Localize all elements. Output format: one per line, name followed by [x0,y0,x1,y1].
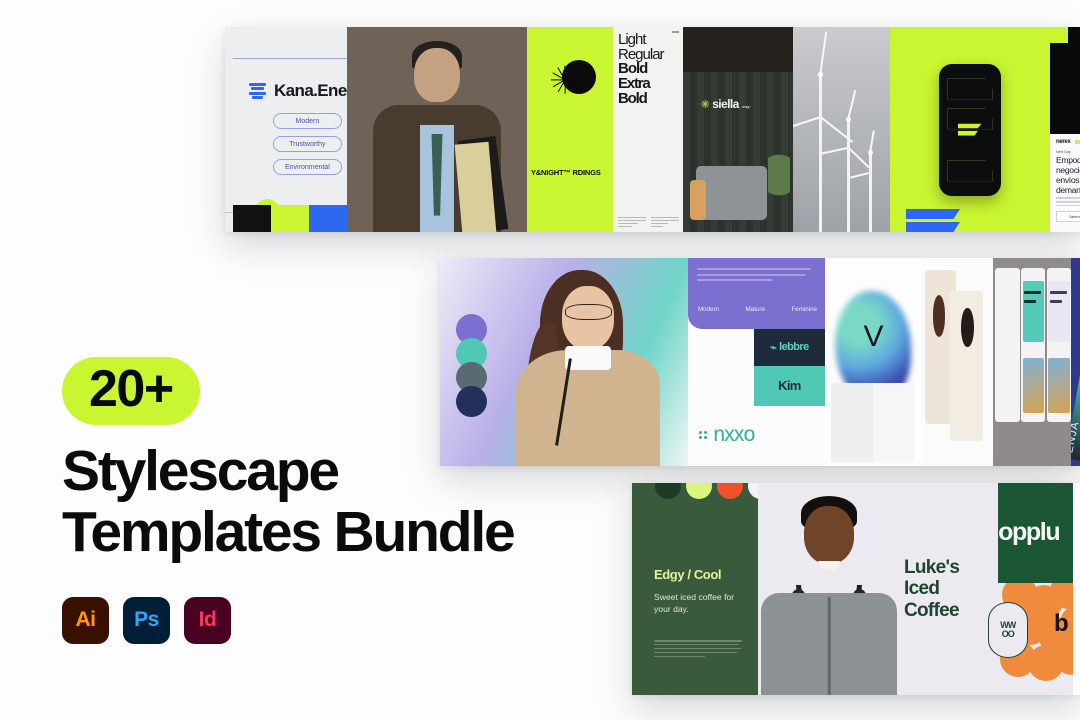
color-swatch [309,205,347,232]
turbine-blade [819,31,828,76]
tagline: Sweet iced coffee for your day. [654,591,742,616]
stylescape-board-nxxo[interactable]: Modern Mature Feminine ⌁ lebbre Kim nxxo [440,258,1080,466]
face-shape [414,48,460,102]
nxxo-wordmark: nxxo [713,423,754,447]
panel-interior-signage: ✳ siella design [683,27,793,232]
color-palette-dots [655,483,758,499]
panel-wind-turbines [793,27,890,232]
lebbre-logo-card: ⌁ lebbre [754,329,825,366]
count-badge: 20+ [62,357,200,425]
website-nav: nerex [1056,139,1080,145]
smile-shape [818,561,840,570]
app-screen [1021,268,1045,422]
app-photo [1023,358,1044,413]
plant-shape [768,154,790,224]
woman-portrait [509,266,663,466]
panel-app-screens [993,258,1071,466]
color-swatch [233,205,271,232]
panel-brand-intro: Kana.Energy Modern Trustworthy Environme… [225,27,347,232]
blue-accent-shape [906,206,960,232]
diagonal-line-decoration [232,27,347,59]
green-wordmark-block: opplu [998,483,1073,583]
panel-brand-title: Luke's Iced Coffee [900,483,986,695]
siella-mark-icon: ✳ [701,98,710,111]
fine-print-lines [654,640,742,659]
nxxo-mark-icon [699,431,707,439]
panel-mood-statement: Edgy / Cool Sweet iced coffee for your d… [632,483,758,695]
panel-app-mockup [890,27,1050,232]
color-swatch [271,205,309,232]
website-mockup-nerex: nerex Next Day Empodera tu negocio con e… [1050,134,1080,232]
panel-statement-and-logos: Modern Mature Feminine ⌁ lebbre Kim nxxo [688,258,825,466]
hero-headline: Empodera tu negocio con envíos on- deman… [1056,156,1080,196]
phone-chevron-shape [947,160,993,182]
siella-signage: ✳ siella design [701,97,750,111]
kim-wordmark: Kim [778,378,800,393]
panel-monogram: V [825,258,921,466]
lime-corner-accent [1050,27,1068,43]
app-hero-card [1023,281,1044,343]
keyword-row: Modern Mature Feminine [698,306,817,313]
keyword: Modern [698,306,719,313]
palette-dot [456,386,487,417]
lebbre-mark-icon: ⌁ [770,341,776,354]
turbine-post [847,117,850,232]
siella-sup: design [742,104,750,109]
panel-product-packaging: ENJA [1071,258,1080,466]
overlay-wordmark: Y&NIGHT™ RDINGS [531,167,601,178]
keyword: Feminine [792,306,817,313]
phone-mockup [939,64,1001,196]
zipper-shape [828,597,831,695]
app-hero-card [1048,281,1069,343]
app-badge-photoshop: Ps [123,597,170,644]
palette-dot [748,483,758,499]
panel-portrait-customer [758,483,900,695]
sun-rays-icon [551,64,579,94]
panel-portrait-businessman [347,27,527,232]
app-photo [1048,358,1069,413]
kim-logo-card: Kim [754,366,825,406]
nerex-logo: nerex [1056,139,1071,145]
phone-logo-icon [958,123,982,136]
app-screen [995,268,1019,422]
ceiling-band [683,27,793,72]
nav-active-pill[interactable] [1075,140,1080,144]
sofa-shape [696,166,766,219]
turbine-blade [869,130,875,153]
mood-label: Edgy / Cool [654,567,721,582]
color-swatch-row [233,205,347,232]
panel-type-specimen: Light Regular Bold Extra Bold [613,27,683,232]
lebbre-wordmark: lebbre [779,341,808,353]
turbine-blade [850,171,870,178]
hero-eyebrow: Next Day [1056,150,1080,154]
nxxo-primary-logo: nxxo [699,423,755,447]
collar-shape [565,346,611,370]
wwoo-bottom: OO [1002,630,1014,639]
panel-beton-collateral: beton beton b nerex [1050,27,1080,232]
keyword-pill: Modern [273,113,342,129]
app-badge-illustrator: Ai [62,597,109,644]
canvas: 20+ Stylescape Templates Bundle Ai Ps Id… [0,0,1080,720]
keyword-pill: Trustworthy [273,136,342,152]
head-shape [961,308,973,348]
monogram-letter: V [863,320,882,354]
statement-text-lines [697,268,816,281]
brand-keyword-list: Modern Trustworthy Environmental [273,113,342,175]
panel-hero-portrait [440,258,688,466]
brand-title: Luke's Iced Coffee [900,557,959,621]
wwoo-badge-icon: WW OO [988,602,1028,658]
color-palette-dots [456,314,487,417]
type-weight-extra-bold: Bold [618,92,679,107]
brand-name: Kana.Energy [274,81,347,101]
keyword-pill: Environmental [273,159,342,175]
eyeglasses-icon [565,304,613,320]
specimen-caption-lines [618,217,679,229]
corner-mark-icon [672,31,679,33]
hero-secondary-button[interactable]: Saber más [1056,211,1080,222]
secondary-mark: b [1054,610,1069,638]
panel-clinic-photo [921,258,993,466]
statement-card: Modern Mature Feminine [688,258,825,329]
keyword: Mature [746,306,765,313]
app-badge-indesign: Id [184,597,231,644]
turbine-blade [793,116,821,131]
face-shape [804,506,854,564]
palette-dot [655,483,681,499]
app-screen [1047,268,1071,422]
phone-chevron-shape [947,78,993,100]
turbine-post [869,150,872,232]
stylescape-board-lukes-iced-coffee[interactable]: Edgy / Cool Sweet iced coffee for your d… [632,483,1080,695]
panel-sun-logo: Y&NIGHT™ RDINGS [527,27,613,232]
app-badge-list: Ai Ps Id [62,597,622,644]
turbine-blade [847,89,857,119]
siella-wordmark: siella [712,97,738,111]
brand-logo: Kana.Energy [249,81,347,101]
turbine-blade [820,147,849,155]
kana-energy-mark-icon [249,83,266,100]
hero-subcopy [1056,197,1080,206]
secondary-strip [831,383,915,462]
stylescape-board-kana-energy[interactable]: Kana.Energy Modern Trustworthy Environme… [225,27,1080,232]
panel-wordmark-and-pattern: opplu b WW OO [986,483,1073,695]
palette-dot [717,483,743,499]
palette-dot [686,483,712,499]
wordmark: opplu [998,518,1059,547]
turbine-blade [847,147,869,169]
